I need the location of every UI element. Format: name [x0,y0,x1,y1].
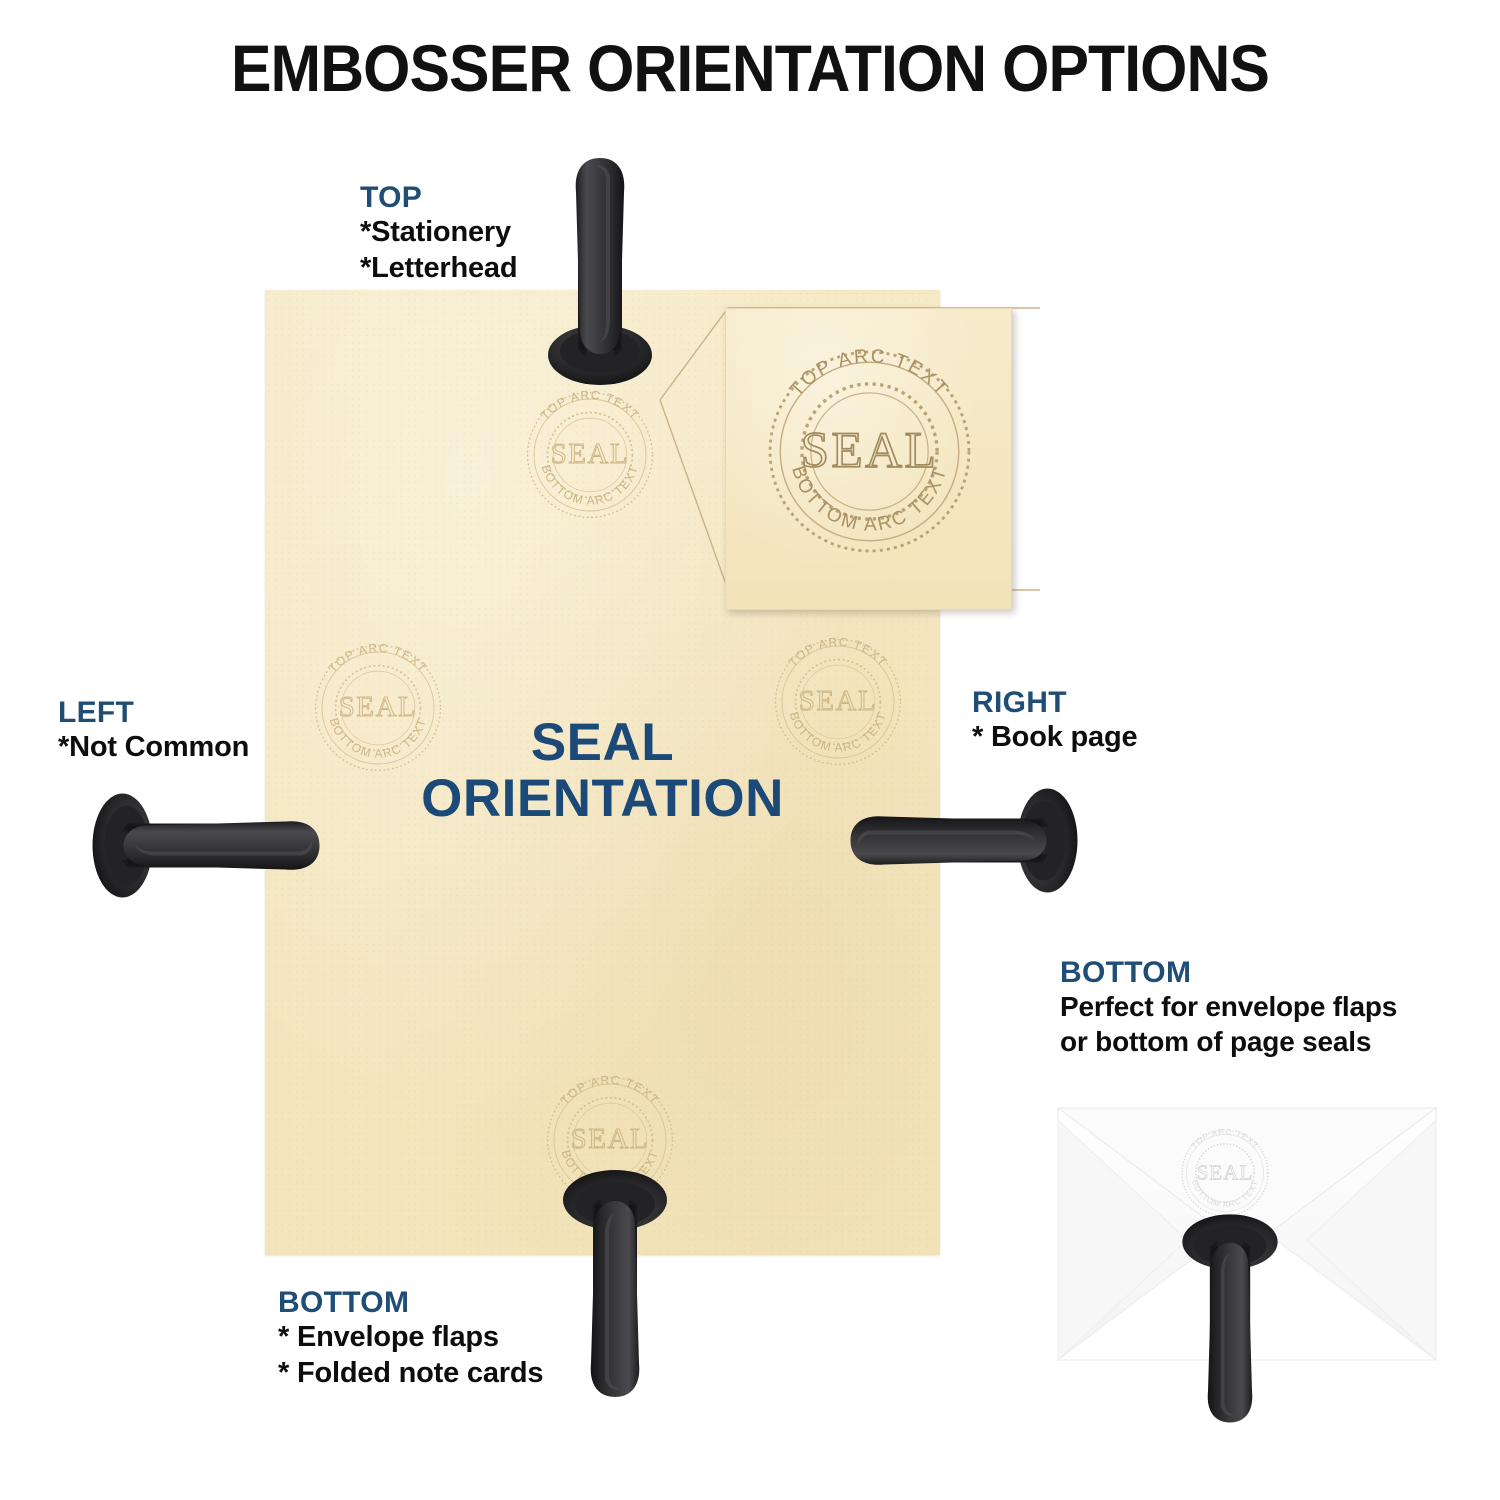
label-top-line-1: *Stationery [360,215,517,251]
label-top-heading: TOP [360,180,517,215]
label-left: LEFT *Not Common [58,695,249,766]
svg-text:TOP ARC TEXT: TOP ARC TEXT [786,346,953,401]
seal-impression-magnified: TOP ARC TEXT BOTTOM ARC TEXT SEAL [742,324,997,579]
label-envelope-heading: BOTTOM [1060,955,1397,990]
center-caption-line2: ORIENTATION [330,771,875,827]
svg-text:SEAL: SEAL [801,423,939,479]
label-right-line-1: * Book page [972,720,1137,756]
center-caption: SEAL ORIENTATION [330,715,875,827]
label-left-heading: LEFT [58,695,249,730]
label-top-line-2: *Letterhead [360,251,517,287]
page-title: EMBOSSER ORIENTATION OPTIONS [60,30,1440,106]
label-envelope: BOTTOM Perfect for envelope flaps or bot… [1060,955,1397,1060]
label-bottom: BOTTOM * Envelope flaps * Folded note ca… [278,1285,543,1392]
label-envelope-line-2: or bottom of page seals [1060,1025,1397,1060]
label-bottom-heading: BOTTOM [278,1285,543,1320]
label-right-heading: RIGHT [972,685,1137,720]
svg-text:BOTTOM ARC TEXT: BOTTOM ARC TEXT [787,463,952,535]
label-envelope-line-1: Perfect for envelope flaps [1060,990,1397,1025]
label-right: RIGHT * Book page [972,685,1137,756]
magnified-seal-callout: TOP ARC TEXT BOTTOM ARC TEXT SEAL [725,308,1012,610]
label-bottom-line-2: * Folded note cards [278,1356,543,1392]
label-left-line-1: *Not Common [58,730,249,766]
center-caption-line1: SEAL [330,715,875,771]
label-top: TOP *Stationery *Letterhead [360,180,517,287]
envelope-illustration [1052,1100,1442,1370]
label-bottom-line-1: * Envelope flaps [278,1320,543,1356]
infographic-canvas: EMBOSSER ORIENTATION OPTIONS TOP ARC TEX… [0,0,1500,1500]
